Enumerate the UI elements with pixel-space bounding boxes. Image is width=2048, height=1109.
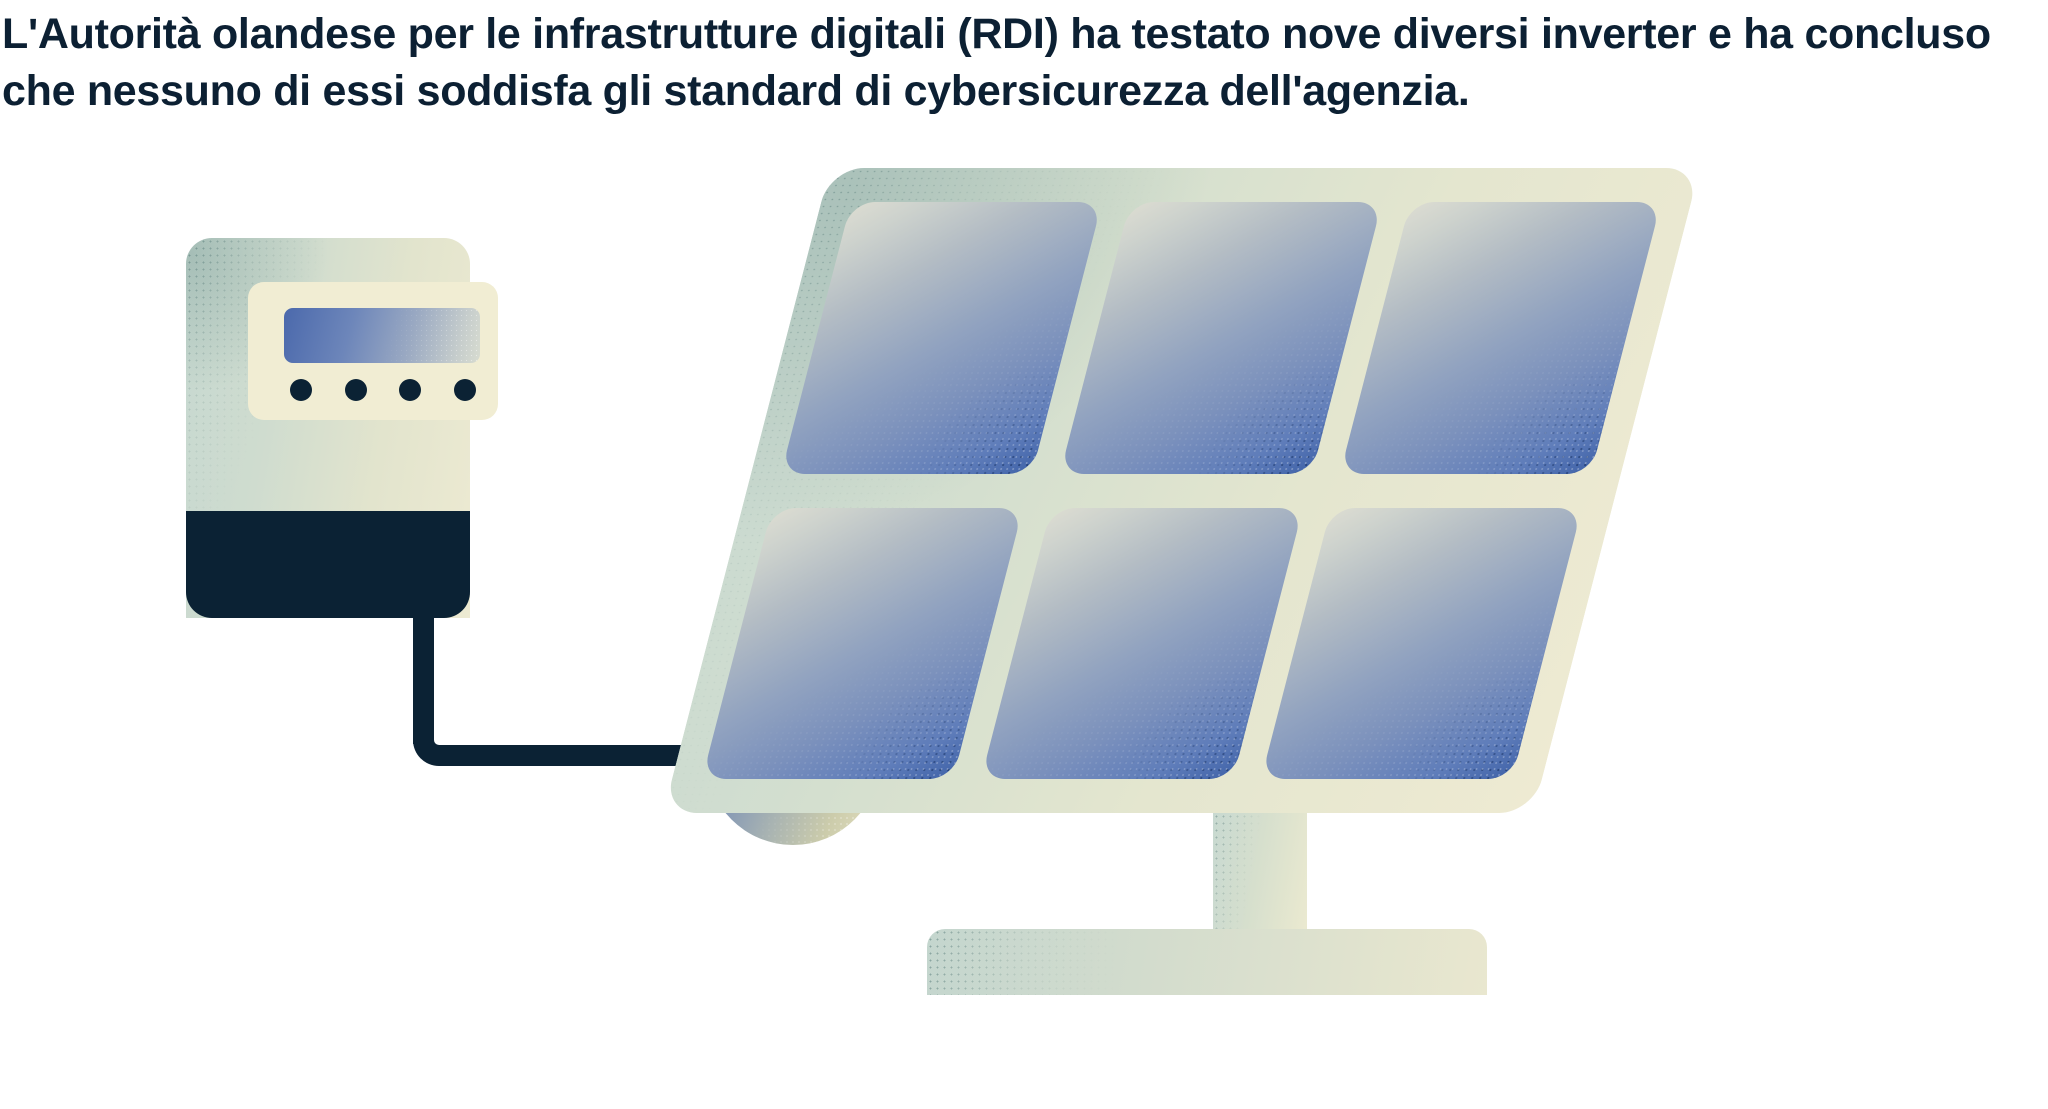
solar-cell-1	[781, 202, 1103, 474]
led-indicator-4	[454, 379, 476, 401]
illustration-stage	[0, 150, 2048, 1109]
led-indicator-3	[399, 379, 421, 401]
page-headline: L'Autorità olandese per le infrastruttur…	[0, 6, 2048, 120]
solar-cell-3	[1340, 202, 1662, 474]
solar-cell-6	[1261, 508, 1583, 780]
led-indicator-2	[345, 379, 367, 401]
solar-cell-2	[1060, 202, 1382, 474]
inverter-display-screen	[284, 308, 480, 363]
solar-panel-foot	[927, 929, 1487, 995]
solar-panel-assembly	[830, 168, 1900, 828]
cable-segment-corner	[413, 710, 469, 766]
led-indicator-1	[290, 379, 312, 401]
inverter-led-row	[290, 378, 476, 402]
solar-cell-5	[981, 508, 1303, 780]
inverter-base-panel	[186, 511, 470, 618]
inverter-faceplate	[248, 282, 498, 420]
solar-cell-4	[702, 508, 1024, 780]
inverter-device	[186, 238, 470, 618]
solar-panel-board	[663, 168, 1700, 813]
